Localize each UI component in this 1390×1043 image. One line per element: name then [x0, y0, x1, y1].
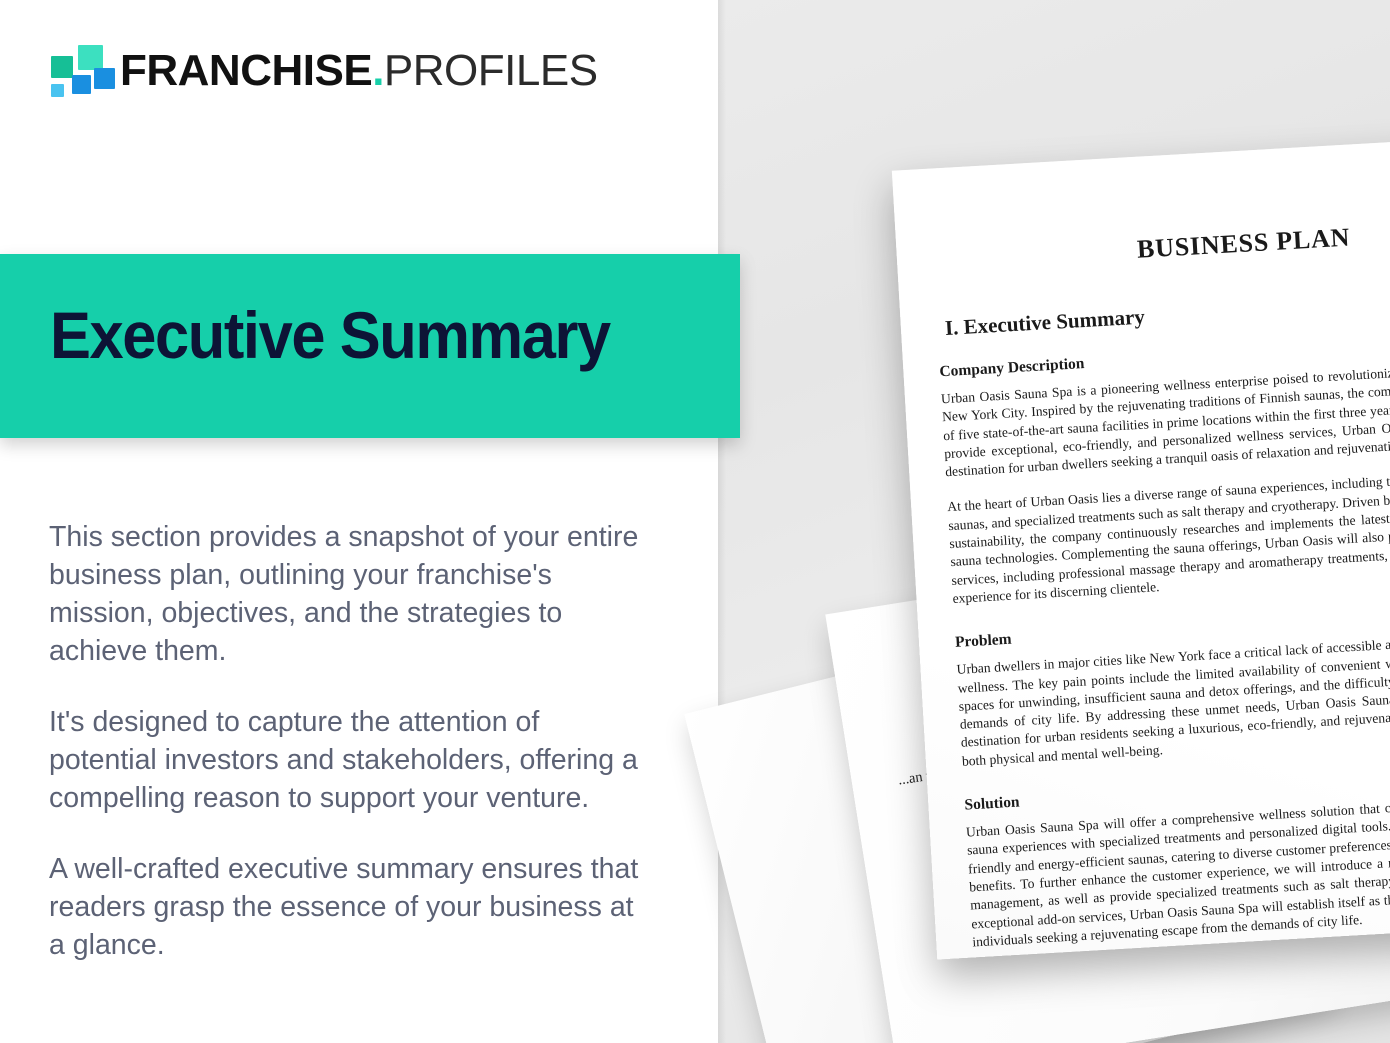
logo-square-3 [72, 75, 91, 94]
logo-square-4 [94, 68, 115, 89]
section-banner: Executive Summary [0, 254, 740, 438]
body-copy: This section provides a snapshot of your… [49, 518, 649, 964]
logo-square-1 [51, 56, 73, 78]
logo-square-5 [51, 84, 64, 97]
body-paragraph-3: A well-crafted executive summary ensures… [49, 850, 649, 964]
document-paragraph-company-2: At the heart of Urban Oasis lies a diver… [947, 462, 1390, 608]
page-title: Executive Summary [50, 302, 610, 368]
document-paragraph-solution-1: Urban Oasis Sauna Spa will offer a compr… [966, 787, 1390, 951]
document-content: BUSINESS PLAN I. Executive Summary Compa… [892, 131, 1390, 960]
document-title: BUSINESS PLAN [924, 210, 1390, 277]
brand-wordmark: FRANCHISE.PROFILES [120, 49, 598, 93]
slide-root: FRANCHISE.PROFILES Executive Summary Thi… [0, 0, 1390, 1043]
body-paragraph-2: It's designed to capture the attention o… [49, 703, 649, 817]
body-paragraph-1: This section provides a snapshot of your… [49, 518, 649, 670]
brand-logo[interactable]: FRANCHISE.PROFILES [46, 42, 598, 100]
document-stack: ...an wellness ...ed by ... as ...mands … [718, 0, 1390, 1043]
document-page-front[interactable]: BUSINESS PLAN I. Executive Summary Compa… [892, 131, 1390, 960]
brand-name-bold: FRANCHISE [120, 46, 372, 95]
document-section-heading: I. Executive Summary [944, 280, 1390, 341]
five-squares-logo-mark-icon [46, 42, 104, 100]
logo-square-2 [78, 45, 103, 70]
brand-name-dot: . [372, 46, 384, 95]
brand-name-light: PROFILES [384, 46, 598, 95]
